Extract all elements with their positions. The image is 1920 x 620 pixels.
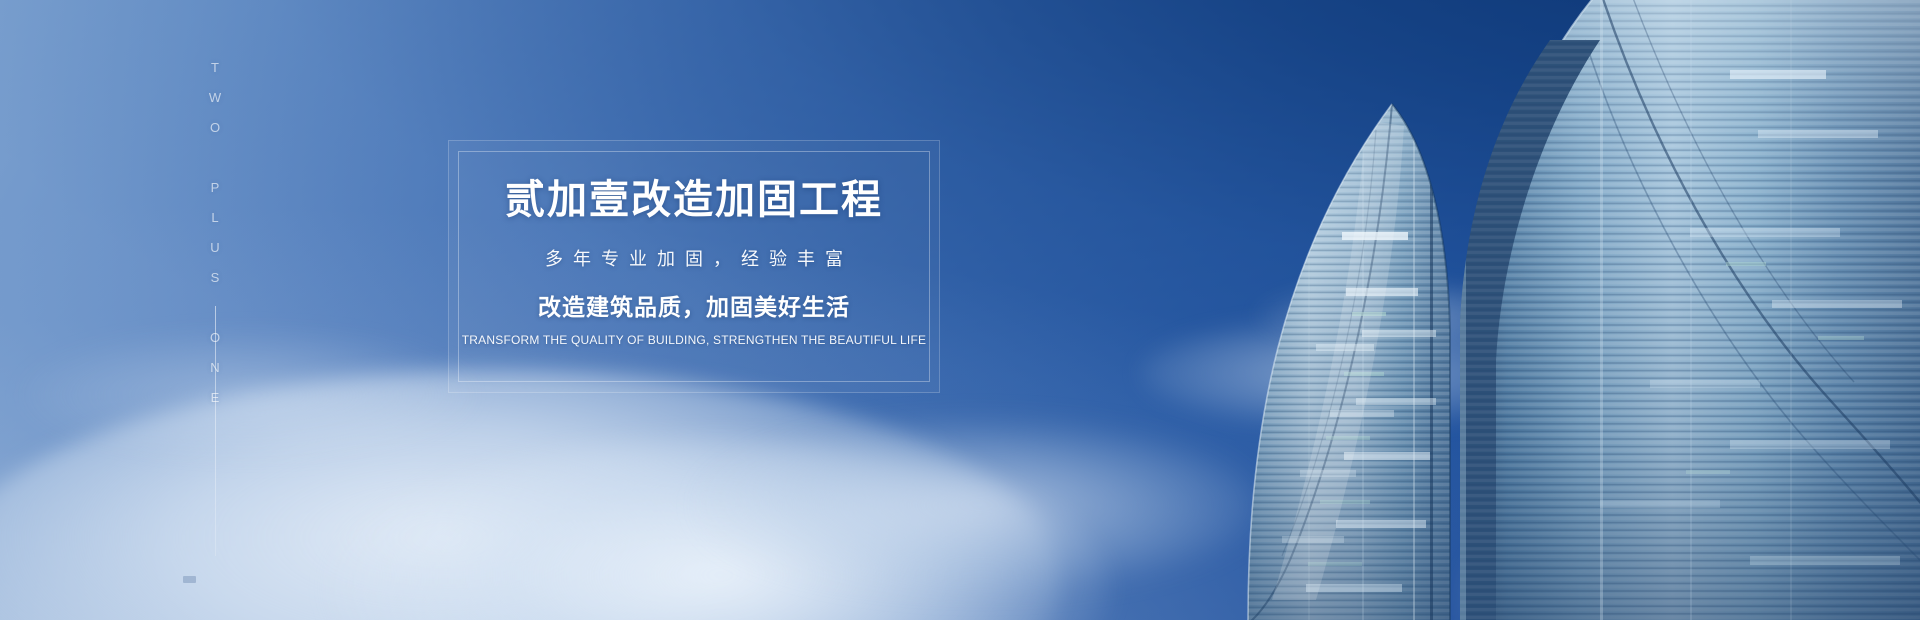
headline-subtitle: 多年专业加固，经验丰富 (535, 250, 853, 268)
hero-banner: TWO PLUS ONE 贰加壹改造加固工程 多年专业加固，经验丰富 改造建筑品… (0, 0, 1920, 620)
headline-english-tagline: TRANSFORM THE QUALITY OF BUILDING, STREN… (462, 334, 926, 346)
slide-marker (183, 576, 196, 583)
page-title: 贰加壹改造加固工程 (505, 180, 883, 220)
headline-tagline: 改造建筑品质，加固美好生活 (538, 296, 850, 319)
sky-haze-overlay (0, 0, 1920, 620)
brand-rail: TWO PLUS ONE (180, 60, 250, 560)
vertical-divider-line (215, 306, 216, 556)
headline-panel-content: 贰加壹改造加固工程 多年专业加固，经验丰富 改造建筑品质，加固美好生活 TRAN… (448, 140, 940, 393)
